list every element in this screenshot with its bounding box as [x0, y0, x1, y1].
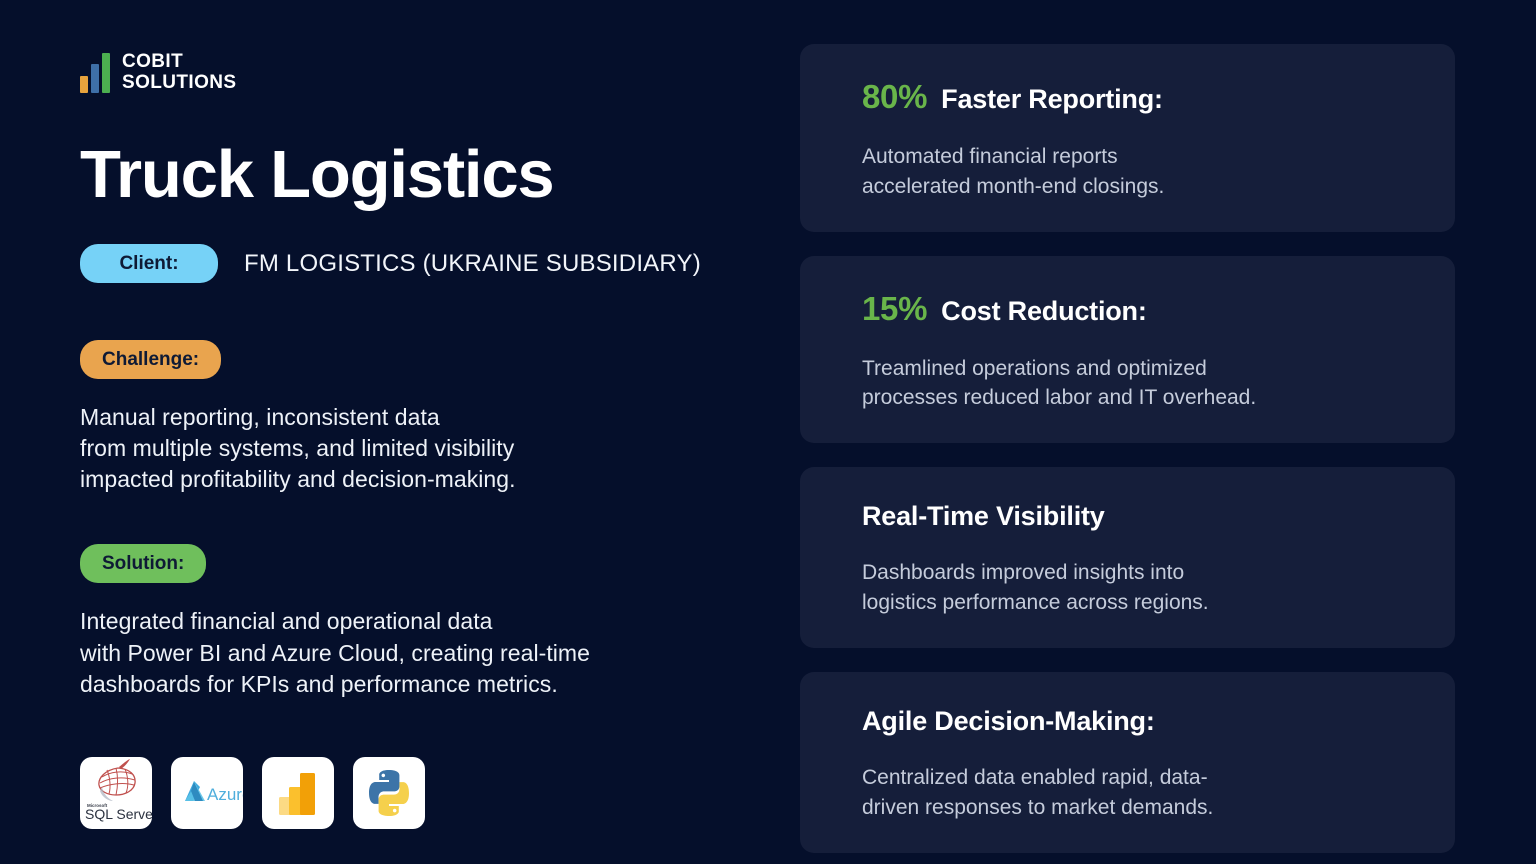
azure-triangle-glyph	[185, 781, 205, 801]
result-description: Automated financial reports accelerated …	[862, 142, 1415, 202]
solution-line-2: with Power BI and Azure Cloud, creating …	[80, 638, 800, 669]
result-card-heading: Real-Time Visibility	[862, 501, 1415, 532]
page-title: Truck Logistics	[80, 140, 800, 210]
client-value: FM LOGISTICS (UKRAINE SUBSIDIARY)	[244, 250, 701, 278]
result-card-heading: Agile Decision-Making:	[862, 706, 1415, 737]
result-card-heading: 80% Faster Reporting:	[862, 78, 1415, 116]
client-row: Client: FM LOGISTICS (UKRAINE SUBSIDIARY…	[80, 244, 800, 283]
result-description-line: Centralized data enabled rapid, data-	[862, 763, 1415, 793]
brand-name-line2: SOLUTIONS	[122, 73, 236, 94]
result-description: Centralized data enabled rapid, data- dr…	[862, 763, 1415, 823]
result-description: Dashboards improved insights into logist…	[862, 558, 1415, 618]
client-badge: Client:	[80, 244, 218, 283]
tech-tile-python[interactable]	[353, 757, 425, 829]
left-column: COBIT SOLUTIONS Truck Logistics Client: …	[0, 0, 800, 864]
bar-chart-icon	[80, 53, 110, 93]
brand-name-line1: COBIT	[122, 52, 236, 73]
result-title: Faster Reporting:	[941, 84, 1163, 115]
result-description-line: driven responses to market demands.	[862, 793, 1415, 823]
result-description-line: logistics performance across regions.	[862, 588, 1415, 618]
result-card-heading: 15% Cost Reduction:	[862, 290, 1415, 328]
tech-tile-azure[interactable]: Azure	[171, 757, 243, 829]
logo-bar-blue	[91, 64, 99, 93]
solution-line-3: dashboards for KPIs and performance metr…	[80, 669, 800, 700]
result-description-line: accelerated month-end closings.	[862, 172, 1415, 202]
solution-line-1: Integrated financial and operational dat…	[80, 606, 800, 637]
challenge-line-2: from multiple systems, and limited visib…	[80, 433, 800, 464]
tech-tile-power-bi[interactable]	[262, 757, 334, 829]
result-title: Real-Time Visibility	[862, 501, 1105, 532]
result-metric: 80%	[862, 78, 927, 116]
result-description-line: Treamlined operations and optimized	[862, 354, 1415, 384]
result-description-line: Dashboards improved insights into	[862, 558, 1415, 588]
logo-bar-orange	[80, 76, 88, 93]
result-card: Real-Time Visibility Dashboards improved…	[800, 467, 1455, 648]
brand-name: COBIT SOLUTIONS	[122, 52, 236, 93]
svg-text:Azure: Azure	[207, 785, 243, 804]
challenge-line-3: impacted profitability and decision-maki…	[80, 464, 800, 495]
result-card: 80% Faster Reporting: Automated financia…	[800, 44, 1455, 232]
tech-stack-row: Microsoft SQL Server Azure	[80, 757, 800, 829]
result-description: Treamlined operations and optimized proc…	[862, 354, 1415, 414]
solution-body: Integrated financial and operational dat…	[80, 606, 800, 699]
azure-icon: Azure	[171, 757, 243, 829]
challenge-line-1: Manual reporting, inconsistent data	[80, 402, 800, 433]
challenge-badge: Challenge:	[80, 340, 221, 379]
result-metric: 15%	[862, 290, 927, 328]
results-column: 80% Faster Reporting: Automated financia…	[800, 0, 1536, 864]
result-card: Agile Decision-Making: Centralized data …	[800, 672, 1455, 853]
result-title: Agile Decision-Making:	[862, 706, 1155, 737]
sql-server-icon: Microsoft SQL Server	[80, 757, 152, 829]
brand-logo: COBIT SOLUTIONS	[80, 44, 800, 102]
case-study-slide: COBIT SOLUTIONS Truck Logistics Client: …	[0, 0, 1536, 864]
python-icon	[353, 757, 425, 829]
result-description-line: processes reduced labor and IT overhead.	[862, 383, 1415, 413]
tech-tile-sql-server[interactable]: Microsoft SQL Server	[80, 757, 152, 829]
result-title: Cost Reduction:	[941, 296, 1147, 327]
solution-badge: Solution:	[80, 544, 206, 583]
logo-bar-green	[102, 53, 110, 93]
result-description-line: Automated financial reports	[862, 142, 1415, 172]
challenge-body: Manual reporting, inconsistent data from…	[80, 402, 800, 495]
power-bi-icon	[262, 757, 334, 829]
challenge-section: Challenge: Manual reporting, inconsisten…	[80, 340, 800, 495]
solution-section: Solution: Integrated financial and opera…	[80, 544, 800, 699]
svg-text:SQL Server: SQL Server	[85, 806, 152, 822]
result-card: 15% Cost Reduction: Treamlined operation…	[800, 256, 1455, 444]
